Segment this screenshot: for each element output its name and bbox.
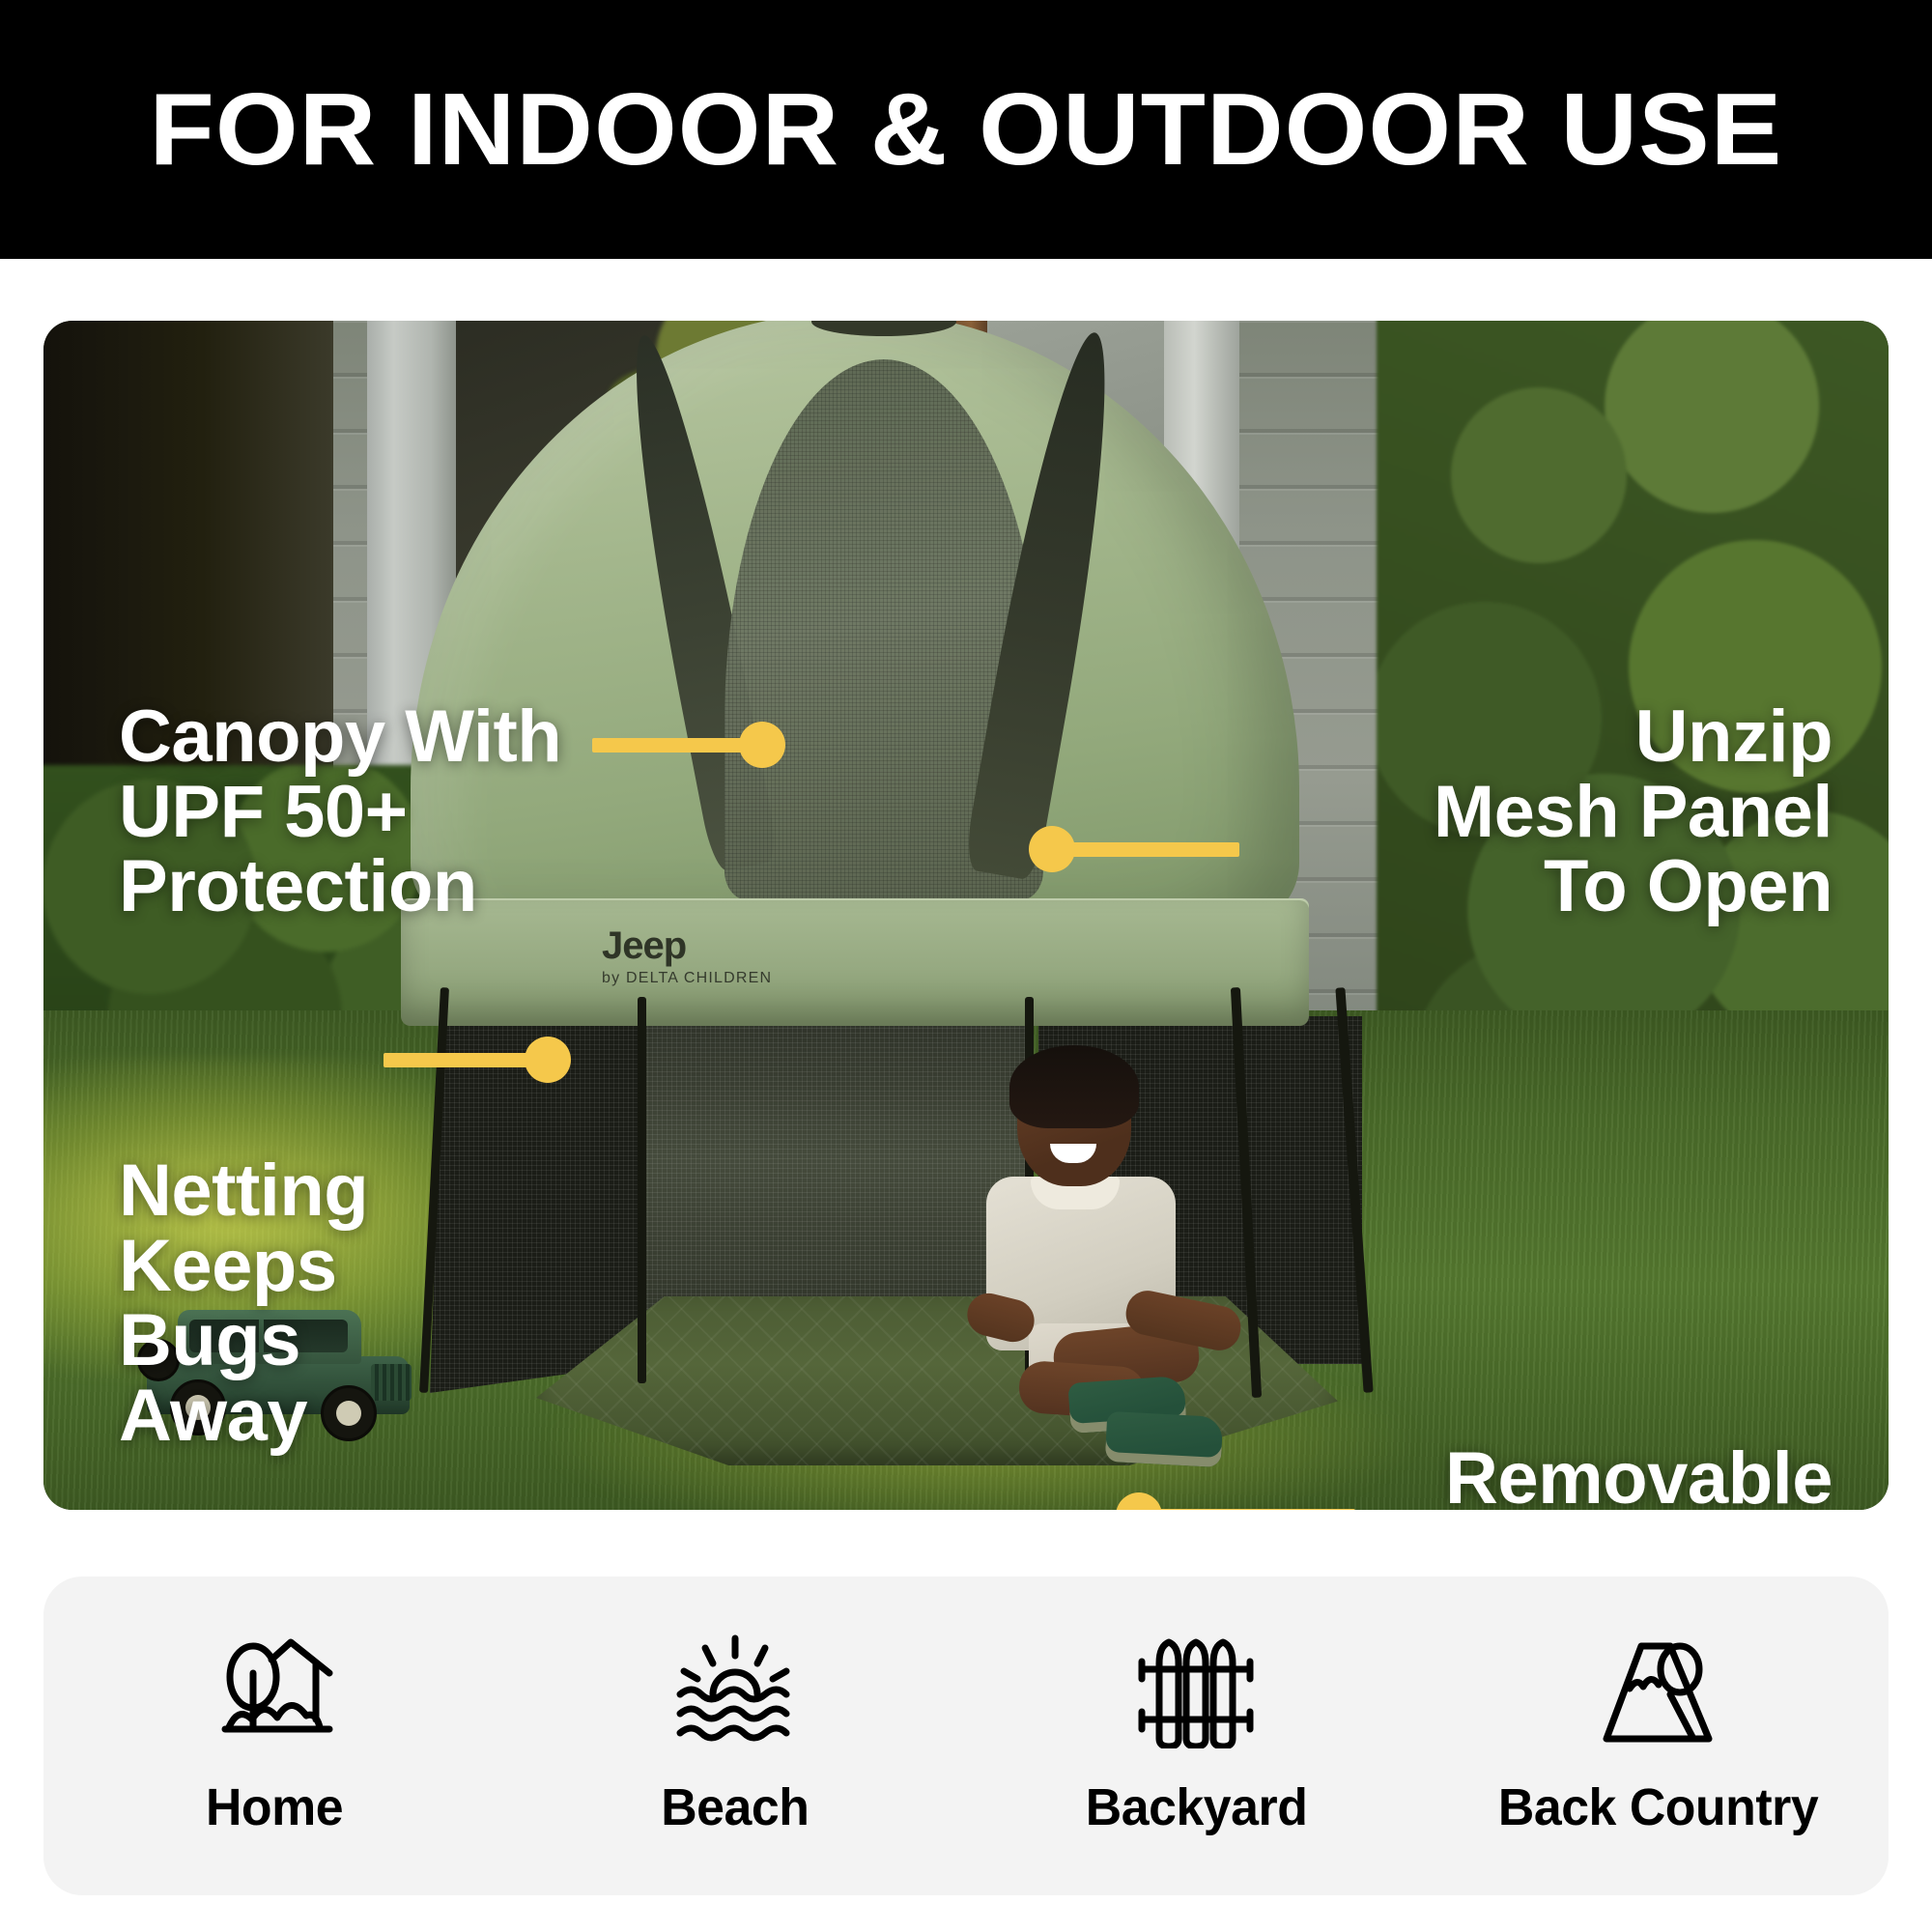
child-hair xyxy=(1009,1045,1139,1128)
use-case-label: Backyard xyxy=(1086,1777,1308,1837)
use-case-label: Beach xyxy=(662,1777,810,1837)
use-case-beach: Beach xyxy=(527,1634,943,1837)
brand-subtitle: by DELTA CHILDREN xyxy=(602,970,772,987)
sun-over-waves-icon xyxy=(672,1634,798,1748)
callout-mat: Removable Water-Resistant Mat xyxy=(1284,1441,1833,1510)
callout-line: Unzip xyxy=(1434,699,1833,775)
callout-line: Away xyxy=(119,1378,368,1454)
callout-netting: Netting Keeps Bugs Away xyxy=(119,1153,368,1453)
tent-pole-2 xyxy=(638,997,646,1383)
connector-line xyxy=(1067,842,1239,857)
callout-line: Protection xyxy=(119,849,561,924)
callout-line: Mesh Panel xyxy=(1434,775,1833,850)
use-case-strip: Home Beach xyxy=(43,1577,1889,1895)
callout-line: Bugs xyxy=(119,1303,368,1378)
child-shoe-right xyxy=(1105,1411,1224,1467)
connector-dot xyxy=(525,1037,571,1083)
mesh-panel-left xyxy=(430,1026,642,1393)
connector-dot xyxy=(739,722,785,768)
connector-dot xyxy=(1029,826,1075,872)
use-case-backyard: Backyard xyxy=(989,1634,1405,1837)
callout-line: UPF 50+ xyxy=(119,775,561,850)
callout-line: Removable xyxy=(1284,1441,1833,1510)
brand-name: Jeep xyxy=(602,924,772,968)
callout-unzip: Unzip Mesh Panel To Open xyxy=(1434,699,1833,924)
connector-line xyxy=(592,738,752,753)
mountain-with-sun-icon xyxy=(1595,1634,1720,1748)
callout-line: Canopy With xyxy=(119,699,561,775)
banner-title: FOR INDOOR & OUTDOOR USE xyxy=(150,71,1783,188)
callout-line: Netting xyxy=(119,1153,368,1229)
use-case-home: Home xyxy=(67,1634,482,1837)
use-case-label: Back Country xyxy=(1498,1777,1818,1837)
header-banner: FOR INDOOR & OUTDOOR USE xyxy=(0,0,1932,259)
infographic-page: FOR INDOOR & OUTDOOR USE xyxy=(0,0,1932,1932)
callout-canopy: Canopy With UPF 50+ Protection xyxy=(119,699,561,924)
callout-line: To Open xyxy=(1434,849,1833,924)
use-case-label: Home xyxy=(206,1777,343,1837)
picket-fence-icon xyxy=(1134,1634,1260,1748)
connector-line xyxy=(384,1053,538,1067)
callout-line: Keeps xyxy=(119,1229,368,1304)
brand-logo: Jeep by DELTA CHILDREN xyxy=(602,924,772,987)
house-with-tree-icon xyxy=(212,1634,337,1748)
use-case-back-country: Back Country xyxy=(1450,1634,1865,1837)
toy-jeep-grille xyxy=(371,1364,412,1401)
product-photo: Jeep by DELTA CHILDREN xyxy=(43,321,1889,1510)
child-model xyxy=(961,1055,1251,1461)
